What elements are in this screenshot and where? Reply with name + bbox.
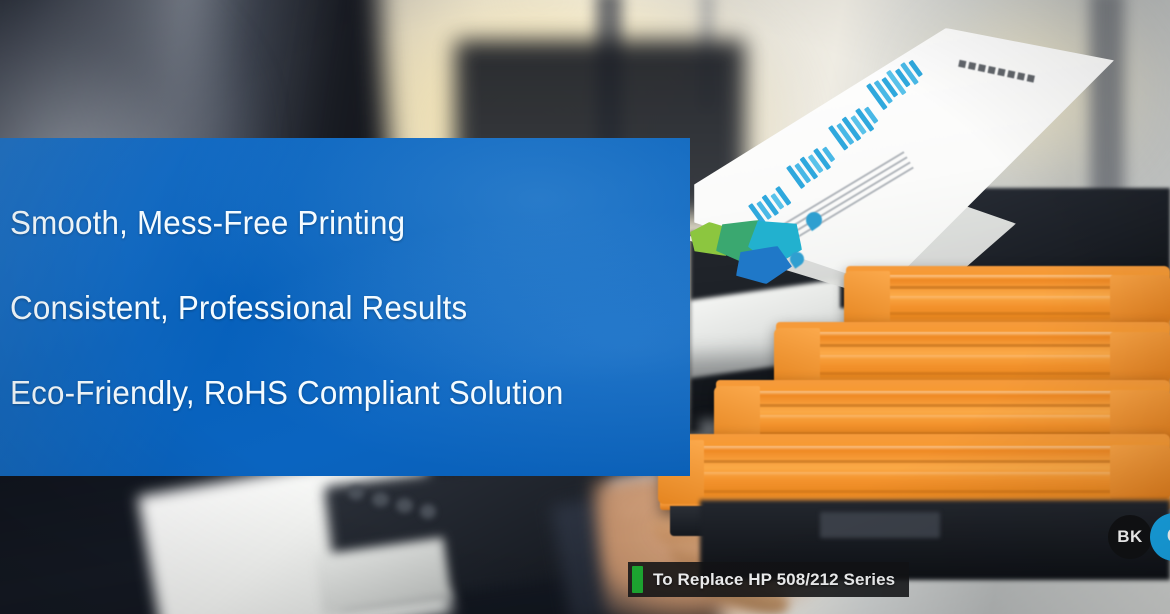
control-button-icon bbox=[348, 486, 364, 500]
headline-line-1: Smooth, Mess-Free Printing bbox=[10, 206, 656, 239]
headline-line-3: Eco-Friendly, RoHS Compliant Solution bbox=[10, 376, 656, 409]
promo-banner: Smooth, Mess-Free Printing Consistent, P… bbox=[0, 0, 1170, 614]
control-button-icon bbox=[372, 492, 389, 507]
compatibility-caption: To Replace HP 508/212 Series bbox=[628, 562, 909, 597]
black-toner-chip: BK bbox=[1108, 515, 1152, 559]
toner-cartridge-icon bbox=[660, 434, 1170, 510]
control-button-icon bbox=[420, 504, 436, 519]
green-accent-bar bbox=[632, 566, 643, 593]
cartridge-label bbox=[820, 512, 940, 538]
headline-line-2: Consistent, Professional Results bbox=[10, 291, 656, 324]
control-button-icon bbox=[396, 498, 413, 513]
caption-text: To Replace HP 508/212 Series bbox=[653, 570, 895, 590]
headline-panel: Smooth, Mess-Free Printing Consistent, P… bbox=[0, 138, 690, 476]
